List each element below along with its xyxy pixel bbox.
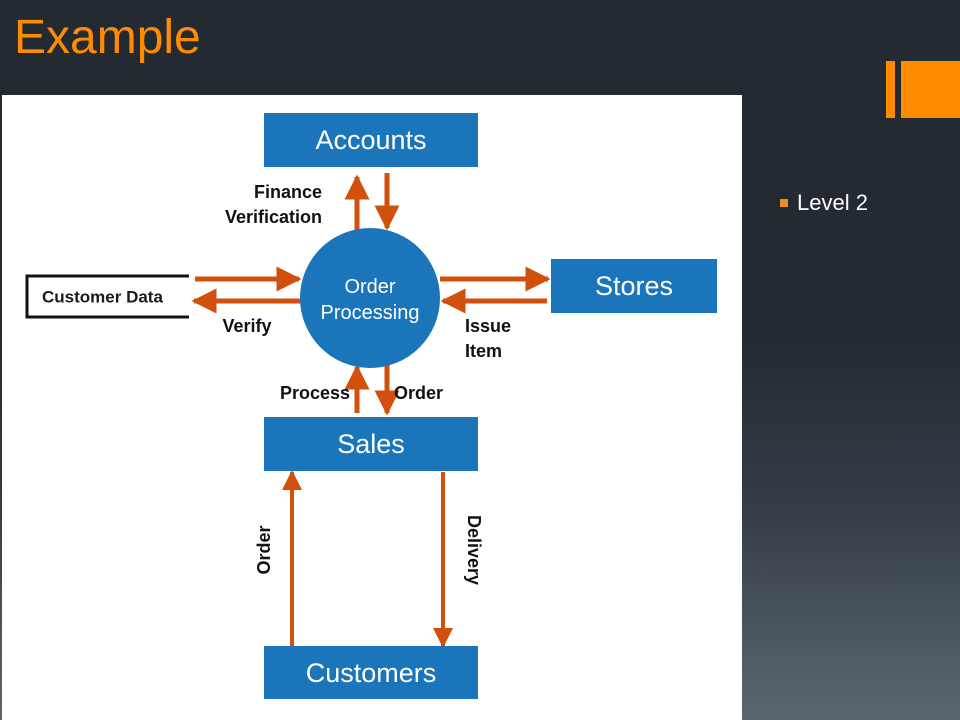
- node-order-processing[interactable]: Order Processing: [300, 228, 440, 368]
- data-flow-diagram: Accounts Stores Sales Customers Order: [2, 95, 742, 720]
- node-customer-data[interactable]: Customer Data: [27, 276, 189, 317]
- list-item: Level 2: [780, 190, 955, 216]
- node-customers-label: Customers: [306, 658, 437, 688]
- node-stores-label: Stores: [595, 271, 673, 301]
- flow-label-finance-line2: Verification: [225, 207, 322, 227]
- node-customers[interactable]: Customers: [264, 646, 478, 699]
- slide-root: Example Level 2: [0, 0, 960, 720]
- square-bullet-icon: [780, 199, 788, 207]
- page-title: Example: [14, 8, 201, 68]
- accent-bar-icon: [886, 61, 895, 118]
- node-stores[interactable]: Stores: [551, 259, 717, 313]
- node-sales-label: Sales: [337, 429, 405, 459]
- bullet-list: Level 2: [780, 190, 955, 226]
- flow-label-delivery: Delivery: [464, 515, 484, 585]
- flow-label-finance-line1: Finance: [254, 182, 322, 202]
- node-accounts-label: Accounts: [315, 125, 426, 155]
- accent-block-icon: [901, 61, 960, 118]
- flow-label-issue-line1: Issue: [465, 316, 511, 336]
- flow-label-issue-line2: Item: [465, 341, 502, 361]
- flow-label-order: Order: [394, 383, 443, 403]
- flow-label-customer-order: Order: [254, 525, 274, 574]
- flow-label-verify: Verify: [222, 316, 271, 336]
- node-accounts[interactable]: Accounts: [264, 113, 478, 167]
- bullet-label: Level 2: [797, 190, 868, 216]
- diagram-panel: Accounts Stores Sales Customers Order: [2, 95, 742, 720]
- node-sales[interactable]: Sales: [264, 417, 478, 471]
- node-order-processing-label-line1: Order: [344, 276, 395, 298]
- flow-label-process: Process: [280, 383, 350, 403]
- node-customer-data-label: Customer Data: [42, 287, 163, 306]
- node-order-processing-label-line2: Processing: [321, 302, 420, 324]
